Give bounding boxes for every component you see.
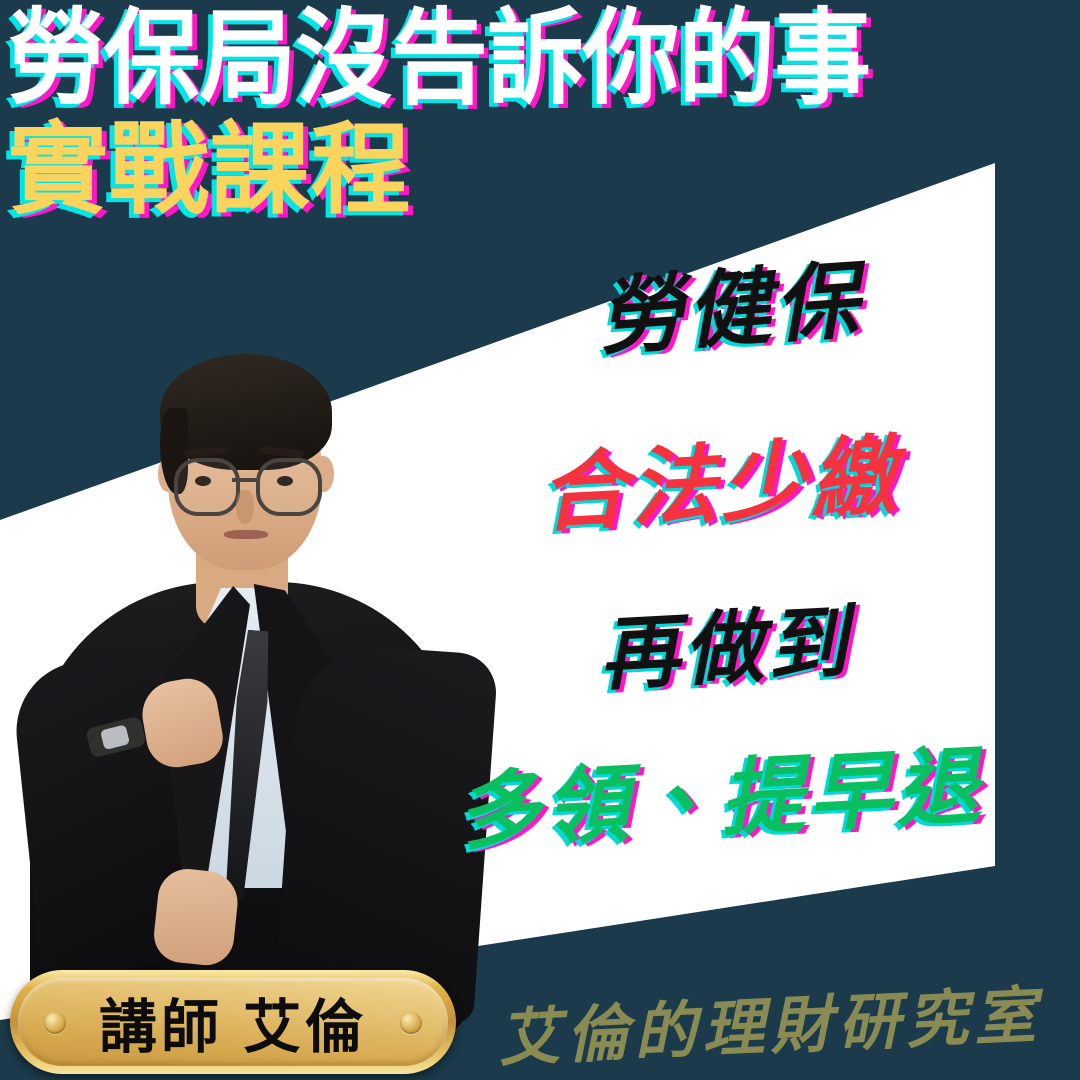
eyeglasses-bridge [232, 478, 258, 482]
headline-primary: 勞保局沒告訴你的事 [8, 6, 1005, 112]
headline-secondary: 實戰課程 [8, 118, 1080, 222]
rivet-right-icon [400, 1012, 422, 1034]
headline-block: 勞保局沒告訴你的事 實戰課程 [8, 6, 1080, 222]
brand-signature: 艾倫的理財研究室 [496, 964, 1043, 1078]
handwriting-line-1: 勞健保 [506, 227, 953, 378]
handwriting-block: 勞健保 合法少繳 再做到 多領、提早退 [430, 232, 1010, 872]
eyeglasses-lens-left [174, 458, 240, 516]
instructor-badge: 講師 艾倫 [10, 970, 456, 1074]
handwriting-line-2: 合法少繳 [447, 400, 993, 553]
instructor-name: 講師 艾倫 [99, 980, 367, 1064]
hand-lower [151, 866, 240, 968]
nose [236, 490, 254, 524]
presenter-photo [18, 330, 478, 1030]
promo-poster: 勞保局沒告訴你的事 實戰課程 勞健保 合法少繳 再做到 多領、提早退 講師 艾倫… [0, 0, 1080, 1080]
handwriting-line-3: 再做到 [497, 572, 952, 711]
eyeglasses-lens-right [256, 458, 322, 516]
mouth [224, 530, 268, 539]
handwriting-line-4: 多領、提早退 [417, 716, 1023, 868]
rivet-left-icon [44, 1012, 66, 1034]
